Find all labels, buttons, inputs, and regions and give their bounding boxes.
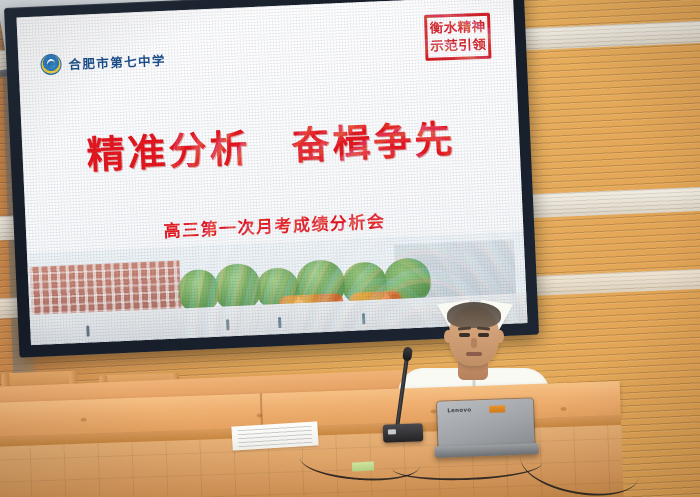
school-logo-text: 合肥市第七中学	[68, 50, 166, 73]
red-seal-stamp-icon: 衡 水 精 神 示 范 引 领	[424, 13, 492, 61]
display-panel: 合肥市第七中学 衡 水 精 神 示 范 引 领 精准分析 奋楫争先 高三第一次月…	[16, 0, 527, 345]
laptop-sticker	[489, 405, 505, 413]
seal-char: 衡	[429, 19, 444, 37]
seal-char: 神	[471, 18, 486, 36]
seal-char: 精	[457, 18, 472, 36]
school-crest-icon	[40, 54, 62, 76]
microphone-base[interactable]	[383, 423, 424, 442]
seal-char: 领	[471, 36, 486, 54]
laptop-brand-label: Lenovo	[447, 407, 471, 414]
seal-char: 示	[429, 37, 444, 55]
seal-char: 水	[443, 19, 458, 37]
slide-title: 精准分析 奋楫争先	[21, 105, 520, 182]
seal-char: 范	[443, 37, 458, 55]
school-logo: 合肥市第七中学	[40, 49, 166, 76]
room-scene: 合肥市第七中学 衡 水 精 神 示 范 引 领 精准分析 奋楫争先 高三第一次月…	[0, 0, 700, 497]
laptop-lid: Lenovo	[437, 398, 535, 447]
presentation-slide: 合肥市第七中学 衡 水 精 神 示 范 引 领 精准分析 奋楫争先 高三第一次月…	[16, 0, 527, 345]
seal-char: 引	[457, 36, 472, 54]
